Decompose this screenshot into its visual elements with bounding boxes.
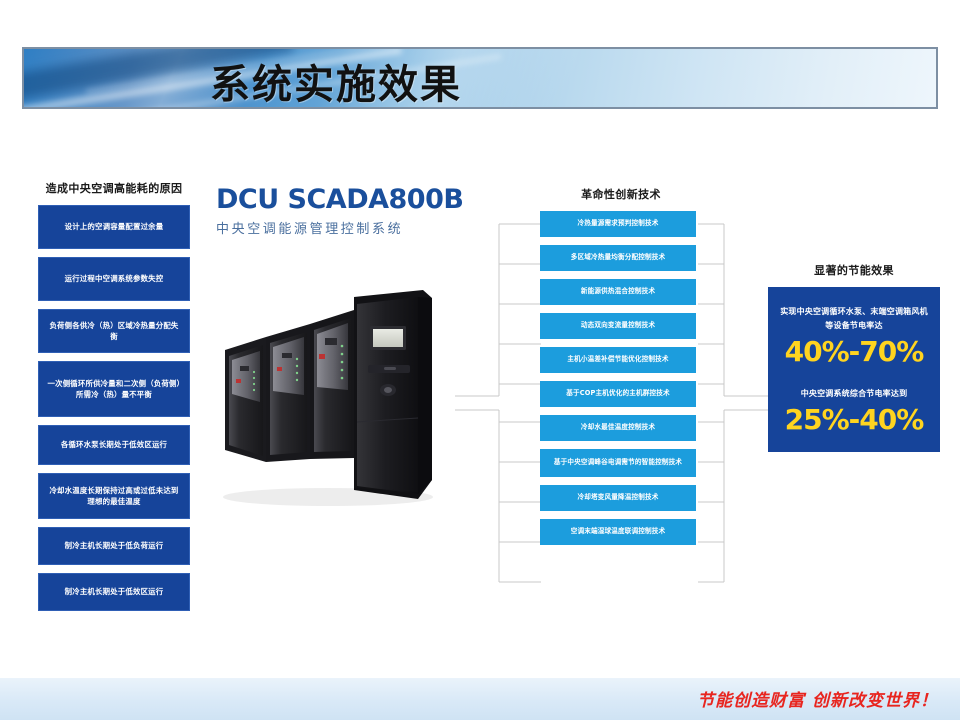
tech-box: 冷热量源需求预判控制技术 xyxy=(540,211,696,237)
page-title: 系统实施效果 xyxy=(210,52,462,109)
causes-column: 造成中央空调高能耗的原因 设计上的空调容量配置过余量 运行过程中空调系统参数失控… xyxy=(38,180,190,619)
result-value: 25%-40% xyxy=(778,403,930,437)
connector-product-to-technologies xyxy=(455,210,547,600)
result-value: 40%-70% xyxy=(778,335,930,369)
cause-box: 一次侧循环所供冷量和二次侧（负荷侧）所需冷（热）量不平衡 xyxy=(38,361,190,417)
results-heading: 显著的节能效果 xyxy=(768,262,940,278)
result-text: 实现中央空调循环水泵、末端空调箱风机等设备节电率达 xyxy=(778,305,930,333)
product-title-block: DCU SCADA800B 中央空调能源管理控制系统 xyxy=(216,186,466,237)
product-subtitle: 中央空调能源管理控制系统 xyxy=(216,218,466,237)
causes-heading: 造成中央空调高能耗的原因 xyxy=(38,180,190,196)
tech-box: 空调末端湿球温度联调控制技术 xyxy=(540,519,696,545)
technologies-column: 革命性创新技术 冷热量源需求预判控制技术 多区域冷热量均衡分配控制技术 新能源供… xyxy=(540,186,702,553)
tech-box: 主机小温差补偿节能优化控制技术 xyxy=(540,347,696,373)
product-name: DCU SCADA800B xyxy=(216,186,466,213)
results-divider xyxy=(778,369,930,387)
tech-box: 冷却塔变风量降温控制技术 xyxy=(540,485,696,511)
tech-box: 新能源供热混合控制技术 xyxy=(540,279,696,305)
tech-box: 冷却水最佳温度控制技术 xyxy=(540,415,696,441)
cause-box: 负荷侧各供冷（热）区域冷热量分配失衡 xyxy=(38,309,190,353)
result-text: 中央空调系统综合节电率达到 xyxy=(778,387,930,401)
cause-box: 运行过程中空调系统参数失控 xyxy=(38,257,190,301)
title-banner: 系统实施效果 xyxy=(22,47,938,109)
footer-slogan: 节能创造财富 创新改变世界！ xyxy=(697,686,938,711)
connector-technologies-to-results xyxy=(698,210,772,600)
results-panel: 实现中央空调循环水泵、末端空调箱风机等设备节电率达 40%-70% 中央空调系统… xyxy=(768,287,940,452)
tech-box: 基于中央空调峰谷电调需节的智能控制技术 xyxy=(540,449,696,477)
technologies-heading: 革命性创新技术 xyxy=(540,186,702,202)
cause-box: 各循环水泵长期处于低效区运行 xyxy=(38,425,190,465)
cause-box: 设计上的空调容量配置过余量 xyxy=(38,205,190,249)
tech-box: 多区域冷热量均衡分配控制技术 xyxy=(540,245,696,271)
tech-box: 动态双向变流量控制技术 xyxy=(540,313,696,339)
tech-box: 基于COP主机优化的主机群控技术 xyxy=(540,381,696,407)
cause-box: 冷却水温度长期保持过高或过低未达到理想的最佳温度 xyxy=(38,473,190,519)
cause-box: 制冷主机长期处于低负荷运行 xyxy=(38,527,190,565)
results-column: 显著的节能效果 实现中央空调循环水泵、末端空调箱风机等设备节电率达 40%-70… xyxy=(768,262,940,452)
footer-bar: 节能创造财富 创新改变世界！ xyxy=(0,678,960,720)
cause-box: 制冷主机长期处于低效区运行 xyxy=(38,573,190,611)
control-cabinets-image xyxy=(218,262,468,522)
